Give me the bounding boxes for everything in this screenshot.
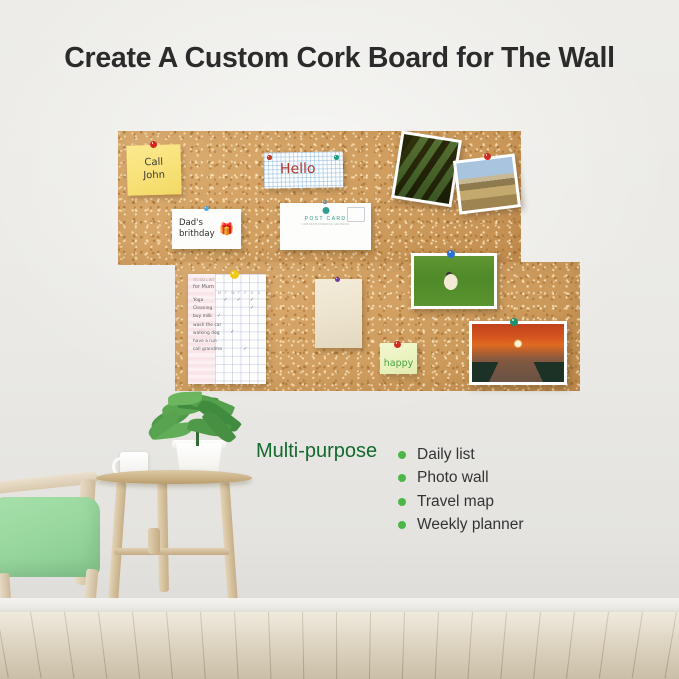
note-call-john[interactable]: Call John bbox=[126, 144, 181, 195]
multi-purpose-heading: Multi-purpose bbox=[256, 440, 377, 463]
checklist-checkmark: ✓ bbox=[217, 313, 221, 319]
postcard-logo-icon bbox=[322, 207, 329, 214]
photo-dog-grass-image bbox=[414, 256, 494, 306]
postcard-title: POST CARD bbox=[305, 216, 347, 222]
checklist-checkmark: ✓ bbox=[224, 297, 228, 303]
photo-ocean-sunset[interactable] bbox=[469, 321, 567, 385]
cork-board: Call John Hello Dad's brithday 🎁 POST CA… bbox=[118, 131, 580, 391]
photo-forest-path-image bbox=[394, 134, 458, 204]
gift-icon: 🎁 bbox=[219, 222, 234, 236]
feature-list-item: Photo wall bbox=[398, 467, 638, 491]
checklist-checkmark: ✓ bbox=[250, 305, 254, 311]
pin-red-hello-left[interactable] bbox=[267, 155, 272, 160]
sunset-shoreline bbox=[472, 362, 564, 382]
checklist-day-header: T bbox=[225, 291, 227, 295]
checklist-for-label: for Mum bbox=[193, 284, 214, 290]
note-call-john-line2: John bbox=[127, 169, 181, 183]
armchair-cushion bbox=[0, 497, 100, 577]
checklist-day-header: S bbox=[251, 291, 253, 295]
pin-red-castle-photo[interactable] bbox=[484, 153, 491, 160]
note-postcard[interactable]: POST CARD CORRESPONDENCE ADDRESS bbox=[280, 203, 371, 250]
side-table-leg-right bbox=[219, 482, 238, 612]
product-lifestyle-image: Create A Custom Cork Board for The Wall … bbox=[0, 0, 679, 679]
photo-castle-landscape-image bbox=[456, 157, 517, 211]
feature-list-item-label: Weekly planner bbox=[417, 516, 524, 534]
checklist-checkmark: ✓ bbox=[243, 346, 247, 352]
bullet-dot-icon bbox=[398, 498, 406, 506]
checklist-task-label: Cleaning bbox=[193, 306, 212, 311]
photo-forest-path[interactable] bbox=[391, 131, 462, 208]
checklist-checkmark: ✓ bbox=[230, 329, 234, 335]
page-title: Create A Custom Cork Board for The Wall bbox=[0, 42, 679, 75]
checklist-checkmark: ✓ bbox=[237, 297, 241, 303]
checklist-day-header: F bbox=[244, 291, 246, 295]
checklist-task-label: Yoga bbox=[193, 298, 203, 303]
side-table-leg-left bbox=[108, 482, 127, 610]
pin-teal-hello-right[interactable] bbox=[334, 155, 339, 160]
postcard-stamp-box bbox=[347, 207, 365, 222]
checklist-day-header: S bbox=[258, 291, 260, 295]
checklist-task-label: wash the car bbox=[193, 323, 221, 328]
feature-list-item-label: Daily list bbox=[417, 446, 475, 464]
note-weekly-checklist[interactable]: TO DO LIST for Mum MTWTFSS YogaCleaningb… bbox=[188, 274, 266, 384]
checklist-task-label: call grandma bbox=[193, 347, 222, 352]
pin-red-call-john[interactable] bbox=[150, 141, 157, 148]
feature-list-item: Daily list bbox=[398, 443, 638, 467]
feature-list-item-label: Photo wall bbox=[417, 469, 489, 487]
pin-purple-blank-tag[interactable] bbox=[335, 277, 340, 282]
note-dads-birthday[interactable]: Dad's brithday 🎁 bbox=[172, 209, 241, 249]
note-call-john-line1: Call bbox=[126, 144, 181, 170]
checklist-day-header: T bbox=[238, 291, 240, 295]
bullet-dot-icon bbox=[398, 451, 406, 459]
floor-shading bbox=[0, 612, 679, 679]
bullet-dot-icon bbox=[398, 521, 406, 529]
pin-blue-dads-birthday[interactable] bbox=[204, 206, 209, 211]
note-hello-text: Hello bbox=[264, 151, 343, 177]
note-hello[interactable]: Hello bbox=[264, 151, 344, 188]
checklist-header: TO DO LIST bbox=[193, 278, 215, 282]
checklist-checkmark: ✓ bbox=[250, 297, 254, 303]
checklist-day-header: M bbox=[218, 291, 221, 295]
checklist-task-label: have a run bbox=[193, 339, 217, 344]
feature-list-item-label: Travel map bbox=[417, 493, 494, 511]
feature-list-item: Weekly planner bbox=[398, 514, 638, 538]
plant-stem bbox=[196, 432, 199, 446]
pin-yellow-checklist[interactable] bbox=[230, 270, 239, 279]
photo-ocean-sunset-image bbox=[472, 324, 564, 382]
pin-green-sunset-photo[interactable] bbox=[510, 318, 518, 326]
side-table-stretcher bbox=[114, 548, 230, 555]
photo-castle-landscape[interactable] bbox=[453, 153, 521, 214]
checklist-day-header: W bbox=[231, 291, 234, 295]
checklist-task-label: buy milk bbox=[193, 314, 212, 319]
postcard-subtitle: CORRESPONDENCE ADDRESS bbox=[302, 223, 350, 226]
feature-list: Daily listPhoto wallTravel mapWeekly pla… bbox=[398, 443, 638, 537]
pin-red-happy[interactable] bbox=[394, 341, 401, 348]
note-blank-tag[interactable] bbox=[315, 279, 362, 348]
pin-blue-dog-photo[interactable] bbox=[447, 250, 455, 258]
feature-list-item: Travel map bbox=[398, 490, 638, 514]
checklist-ruled-column bbox=[188, 274, 215, 384]
side-table-stretcher-vertical bbox=[148, 528, 160, 554]
checklist-task-label: walking dog bbox=[193, 331, 220, 336]
side-table-top bbox=[96, 470, 252, 484]
bullet-dot-icon bbox=[398, 474, 406, 482]
pin-postcard[interactable] bbox=[323, 200, 327, 204]
photo-dog-grass[interactable] bbox=[411, 253, 497, 309]
